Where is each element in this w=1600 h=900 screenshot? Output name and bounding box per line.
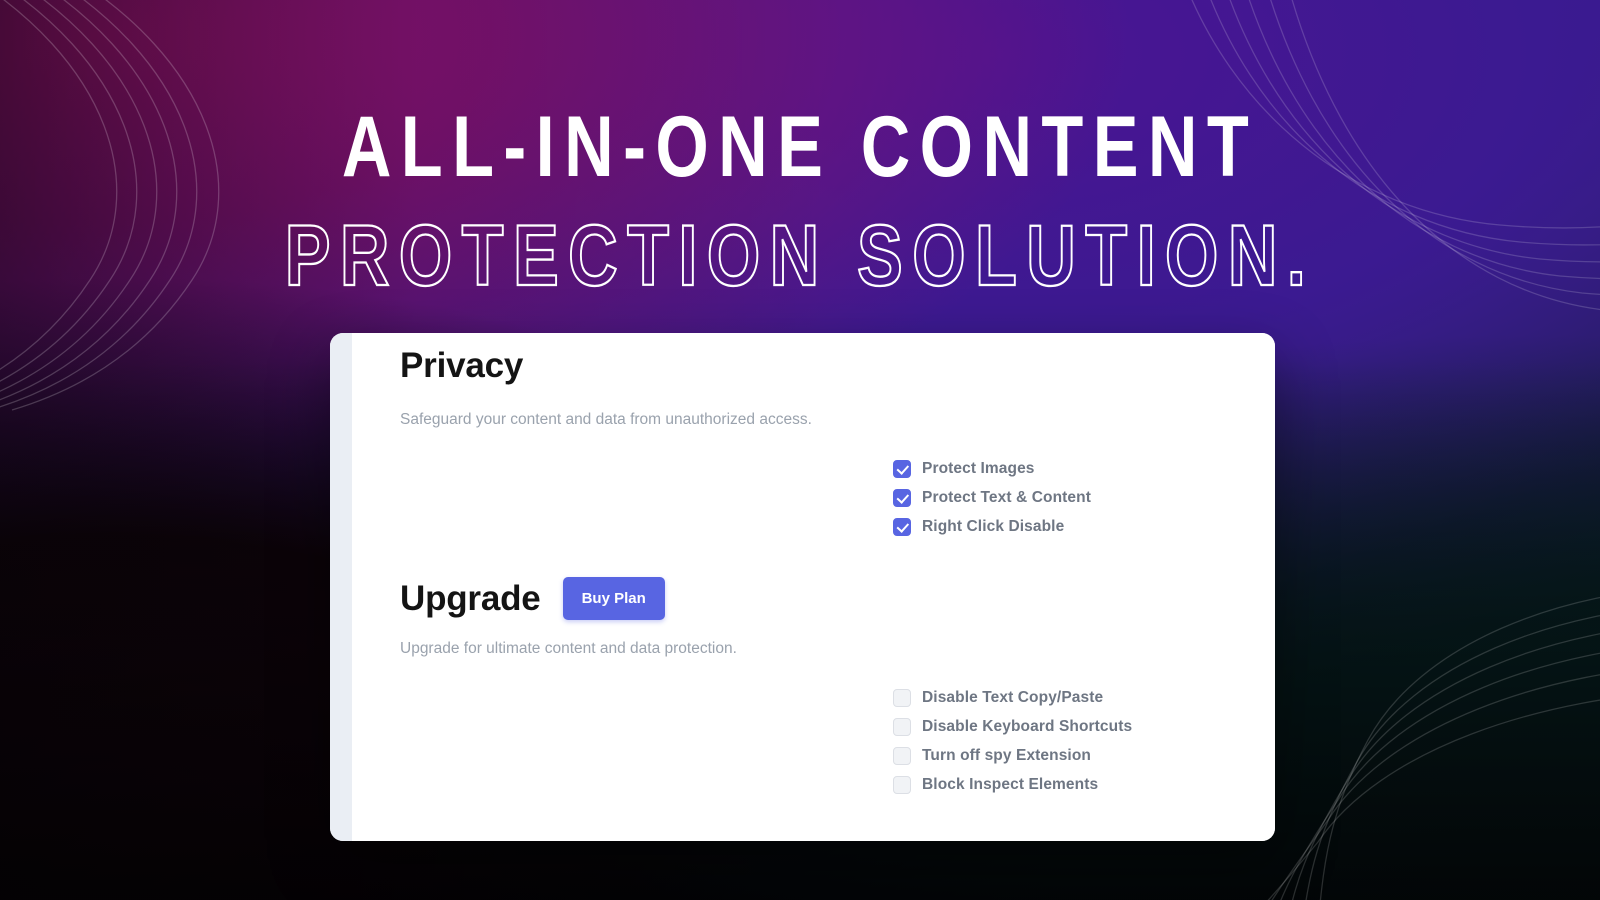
option-turn-off-spy-extension[interactable]: Turn off spy Extension (893, 747, 1132, 765)
option-label: Right Click Disable (922, 518, 1064, 536)
option-disable-keyboard-shortcuts[interactable]: Disable Keyboard Shortcuts (893, 718, 1132, 736)
wave-group-bottom-right (1240, 586, 1600, 900)
checkbox-unchecked-icon[interactable] (893, 776, 911, 794)
checkbox-unchecked-icon[interactable] (893, 689, 911, 707)
option-label: Disable Keyboard Shortcuts (922, 718, 1132, 736)
option-label: Disable Text Copy/Paste (922, 689, 1103, 707)
option-right-click-disable[interactable]: Right Click Disable (893, 518, 1091, 536)
option-protect-images[interactable]: Protect Images (893, 460, 1091, 478)
option-label: Protect Text & Content (922, 489, 1091, 507)
privacy-section-subtitle: Safeguard your content and data from una… (400, 411, 812, 429)
settings-card: Privacy Safeguard your content and data … (330, 333, 1275, 841)
hero-headline: ALL-IN-ONE CONTENT PROTECTION SOLUTION. (0, 104, 1600, 286)
checkbox-checked-icon[interactable] (893, 518, 911, 536)
option-protect-text-content[interactable]: Protect Text & Content (893, 489, 1091, 507)
option-disable-text-copy-paste[interactable]: Disable Text Copy/Paste (893, 689, 1132, 707)
checkbox-checked-icon[interactable] (893, 489, 911, 507)
checkbox-unchecked-icon[interactable] (893, 718, 911, 736)
card-left-rail (330, 333, 352, 841)
checkbox-unchecked-icon[interactable] (893, 747, 911, 765)
upgrade-header-row: Upgrade Buy Plan (400, 577, 665, 620)
card-content: Privacy Safeguard your content and data … (352, 333, 1275, 841)
checkbox-checked-icon[interactable] (893, 460, 911, 478)
privacy-section-title: Privacy (400, 346, 523, 386)
upgrade-section-title: Upgrade (400, 579, 541, 619)
option-label: Turn off spy Extension (922, 747, 1091, 765)
headline-line-2: PROTECTION SOLUTION. (48, 213, 1552, 299)
privacy-options-group: Protect Images Protect Text & Content Ri… (893, 460, 1091, 536)
promo-banner: ALL-IN-ONE CONTENT PROTECTION SOLUTION. … (0, 0, 1600, 900)
option-label: Protect Images (922, 460, 1035, 478)
upgrade-section-subtitle: Upgrade for ultimate content and data pr… (400, 640, 737, 658)
headline-line-1: ALL-IN-ONE CONTENT (48, 104, 1552, 190)
option-label: Block Inspect Elements (922, 776, 1098, 794)
upgrade-options-group: Disable Text Copy/Paste Disable Keyboard… (893, 689, 1132, 794)
option-block-inspect-elements[interactable]: Block Inspect Elements (893, 776, 1132, 794)
buy-plan-button[interactable]: Buy Plan (563, 577, 665, 620)
